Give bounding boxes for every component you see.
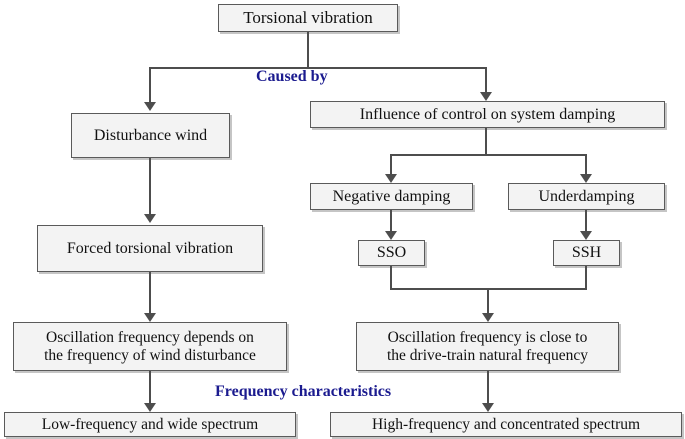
node-torsional-vibration[interactable]: Torsional vibration [218, 4, 398, 32]
arrowhead-to-left-spectrum [144, 403, 156, 412]
connector-root-to-influence [485, 67, 487, 93]
node-negative-damping[interactable]: Negative damping [310, 183, 473, 210]
connector-to-negative-damping [390, 154, 392, 175]
arrowhead-to-disturbance-wind [144, 102, 156, 111]
connector-to-underdamping [585, 154, 587, 175]
connector-disturbance-to-forced [149, 158, 151, 215]
arrowhead-to-left-outcome [144, 313, 156, 322]
arrowhead-to-influence [480, 92, 492, 101]
connector-left-outcome-to-spectrum [149, 371, 151, 404]
node-influence-of-control[interactable]: Influence of control on system damping [310, 101, 665, 128]
arrowhead-to-sso [385, 231, 397, 240]
node-right-outcome[interactable]: Oscillation frequency is close to the dr… [356, 322, 619, 371]
arrowhead-to-forced-torsional [144, 214, 156, 223]
arrowhead-to-ssh [580, 231, 592, 240]
flowchart-canvas: Torsional vibration Caused by Disturbanc… [0, 0, 685, 439]
node-right-spectrum[interactable]: High-frequency and concentrated spectrum [330, 412, 682, 437]
connector-underdamping-to-ssh [585, 210, 587, 232]
connector-sso-down [390, 266, 392, 290]
connector-merge-to-right-outcome [487, 288, 489, 314]
arrowhead-to-right-spectrum [482, 403, 494, 412]
node-underdamping[interactable]: Underdamping [508, 183, 665, 210]
node-ssh[interactable]: SSH [553, 240, 620, 266]
connector-damping-split-bar [391, 154, 587, 156]
node-forced-torsional-vibration[interactable]: Forced torsional vibration [37, 225, 263, 272]
connector-influence-stem [485, 128, 487, 155]
arrowhead-to-right-outcome [482, 313, 494, 322]
connector-right-outcome-to-spectrum [487, 371, 489, 404]
annotation-frequency-characteristics: Frequency characteristics [215, 383, 391, 401]
arrowhead-to-negative-damping [385, 174, 397, 183]
connector-root-stem [307, 32, 309, 68]
node-left-spectrum[interactable]: Low-frequency and wide spectrum [4, 412, 296, 437]
connector-root-to-disturbance [149, 67, 151, 103]
node-sso[interactable]: SSO [358, 240, 425, 266]
node-left-outcome[interactable]: Oscillation frequency depends on the fre… [13, 322, 287, 371]
node-disturbance-wind[interactable]: Disturbance wind [71, 113, 230, 158]
annotation-caused-by: Caused by [256, 68, 328, 86]
connector-negative-damping-to-sso [390, 210, 392, 232]
connector-forced-to-left-outcome [149, 272, 151, 314]
connector-ssh-down [585, 266, 587, 290]
arrowhead-to-underdamping [580, 174, 592, 183]
